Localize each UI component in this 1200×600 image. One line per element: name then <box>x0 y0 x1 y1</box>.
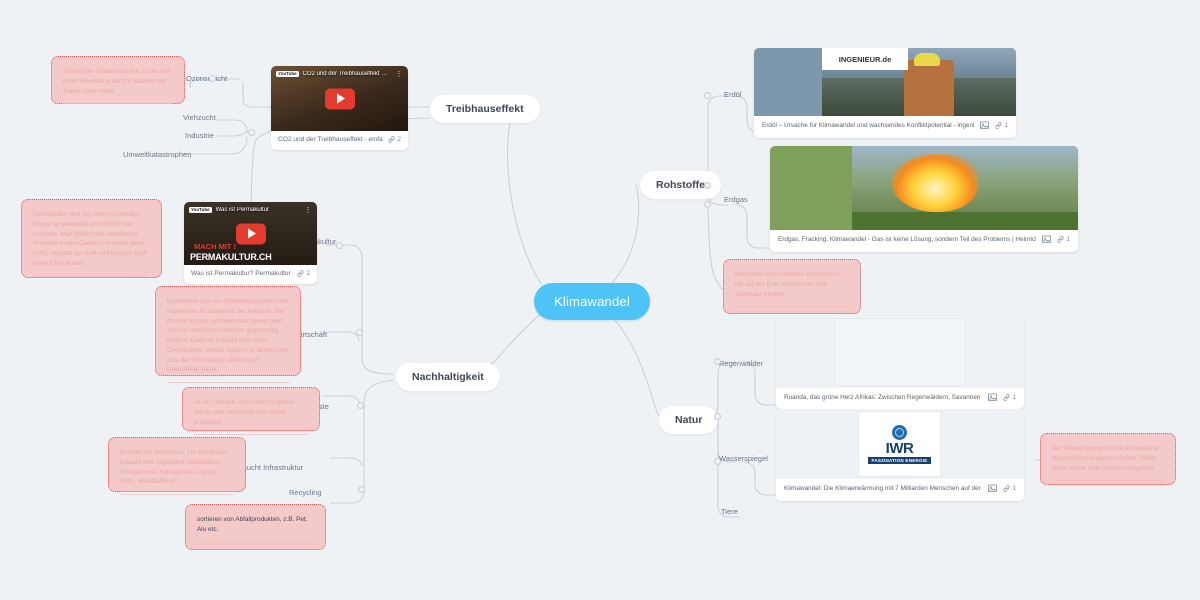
note-divider <box>63 103 173 104</box>
link-thumbnail[interactable]: INGENIEUR.de <box>754 48 1016 116</box>
thumbnail-flame <box>892 154 978 212</box>
thumbnail-overlay-text-2: PERMAKULTUR.CH <box>190 252 272 262</box>
note-infrastruktur[interactable]: Beispiel mit Schulhaus: Ein Schulhaus br… <box>108 437 246 492</box>
branch-label: Rohstoffe <box>656 179 705 191</box>
note-ozonschicht[interactable]: Schicht der Erdatmosphäre, in der sich u… <box>51 56 185 104</box>
root-node-label: Klimawandel <box>554 294 630 309</box>
link-thumbnail[interactable] <box>770 146 1078 230</box>
note-divider <box>120 494 234 495</box>
attachment-count-value: 1 <box>1004 122 1008 129</box>
link-title: Erdöl – Ursache für Klimawandel und wach… <box>762 122 974 129</box>
thumbnail-overlay-text-1: MACH MIT ! <box>194 242 236 251</box>
youtube-logo-icon: YouTube <box>276 71 299 78</box>
link-card-footer: Erdgas, Fracking, Klimawandel - Gas ist … <box>770 230 1078 248</box>
attachment-count[interactable]: 1 <box>1003 394 1016 401</box>
video-caption: Was ist Permakultur? Permakultur Schweiz <box>191 270 292 277</box>
note-text: bezeichnet man ein Produktionssystem von… <box>167 297 289 375</box>
link-title: Klimawandel: Die Klimaerwärmung mit 7 Mi… <box>784 485 982 492</box>
link-card-iwr[interactable]: IWR FASZINATION ENERGIE Klimawandel: Die… <box>776 409 1024 501</box>
note-text: Rohstoffe sind natürliche Ressourcen, di… <box>735 270 849 299</box>
attachment-count-value: 1 <box>1012 394 1016 401</box>
attachment-count[interactable]: 2 <box>297 270 310 277</box>
link-icon <box>1003 394 1010 401</box>
subnode-ozonschicht[interactable]: Ozonschicht <box>186 75 227 83</box>
note-permakultur[interactable]: Permakultur wird von einem normalen Bürg… <box>21 199 162 278</box>
subnode-label: Regenwälder <box>719 359 763 368</box>
connector-dot[interactable] <box>714 358 721 365</box>
subnode-label: Wasserspiegel <box>719 454 768 463</box>
kebab-menu-icon[interactable]: ⋮ <box>396 70 404 78</box>
video-player-title: CO2 und der Treibhauseffekt … <box>303 71 392 77</box>
play-button-icon[interactable] <box>236 223 266 244</box>
attachment-count-value: 2 <box>306 270 310 277</box>
subnode-label: Viehzucht <box>183 113 216 122</box>
note-recycling[interactable]: sortieren von Abfallprodukten, z.B. Pet,… <box>185 504 326 550</box>
link-card-erdoel[interactable]: INGENIEUR.de Erdöl – Ursache für Klimawa… <box>754 48 1016 138</box>
branch-label: Natur <box>675 414 702 426</box>
video-card-footer: CO2 und der Treibhauseffekt - einfach er… <box>271 131 408 148</box>
subnode-braucht-infrastruktur[interactable]: braucht Infrastruktur <box>236 464 303 472</box>
connector-dot[interactable] <box>209 75 216 82</box>
subnode-label: Erdgas <box>724 195 748 204</box>
youtube-logo-icon: YouTube <box>189 207 212 214</box>
branch-natur[interactable]: Natur <box>659 406 718 434</box>
thumbnail-helmet <box>914 53 940 66</box>
connector-dot[interactable] <box>714 413 721 420</box>
subnode-label: Umweltkatastrophen <box>123 150 191 159</box>
link-icon <box>388 136 395 143</box>
link-brand-label: IWR <box>886 441 914 456</box>
video-thumbnail[interactable]: YouTube Was ist Permakultur ⋮ MACH MIT !… <box>184 202 317 265</box>
note-divider <box>197 542 314 543</box>
subnode-label: Recycling <box>289 488 322 497</box>
attachment-count-value: 1 <box>1012 485 1016 492</box>
video-card-co2[interactable]: YouTube CO2 und der Treibhauseffekt … ⋮ … <box>271 66 408 150</box>
root-node[interactable]: Klimawandel <box>534 283 650 320</box>
note-divider <box>194 434 308 435</box>
youtube-player-bar: YouTube CO2 und der Treibhauseffekt … ⋮ <box>276 70 403 78</box>
subnode-erdgas[interactable]: Erdgas <box>724 196 748 204</box>
note-text: sortieren von Abfallprodukten, z.B. Pet,… <box>197 515 314 535</box>
link-brand-sub: FASZINATION ENERGIE <box>868 457 930 464</box>
subnode-label: Ozonschicht <box>186 74 227 83</box>
link-icon <box>297 270 304 277</box>
subnode-erdoel[interactable]: Erdöl <box>724 91 742 99</box>
video-card-permakultur[interactable]: YouTube Was ist Permakultur ⋮ MACH MIT !… <box>184 202 317 284</box>
link-title: Ruanda, das grüne Herz Afrikas: Zwischen… <box>784 394 982 401</box>
image-icon[interactable] <box>988 484 997 492</box>
link-title: Erdgas, Fracking, Klimawandel - Gas ist … <box>778 236 1036 243</box>
globe-icon <box>892 425 907 440</box>
connector-dot[interactable] <box>356 329 363 336</box>
subnode-viehzucht[interactable]: Viehzucht <box>183 114 216 122</box>
subnode-regenwaelder[interactable]: Regenwälder <box>719 360 763 368</box>
mindmap-canvas[interactable]: Klimawandel Treibhauseffekt Nachhaltigke… <box>0 0 1200 600</box>
note-rohstoffe[interactable]: Rohstoffe sind natürliche Ressourcen, di… <box>723 259 861 314</box>
subnode-label: Erdöl <box>724 90 742 99</box>
link-brand-label: INGENIEUR.de <box>822 48 908 70</box>
subnode-umweltkatastrophen[interactable]: Umweltkatastrophen <box>123 151 191 159</box>
youtube-player-bar: YouTube Was ist Permakultur ⋮ <box>189 206 312 214</box>
kebab-menu-icon[interactable]: ⋮ <box>305 206 313 214</box>
link-thumbnail[interactable]: IWR FASZINATION ENERGIE <box>776 409 1024 479</box>
subnode-label: Tiere <box>721 507 738 516</box>
note-divider <box>735 306 849 307</box>
connector-dot[interactable] <box>704 201 711 208</box>
note-text: Beispiel mit Schulhaus: Ein Schulhaus br… <box>120 448 234 487</box>
subnode-label: Industrie <box>185 131 214 140</box>
note-wasserspiegel[interactable]: Der Wasserspiegel ist die momentane Wass… <box>1040 433 1176 485</box>
connector-dot[interactable] <box>714 458 721 465</box>
note-text: Der Wasserspiegel ist die momentane Wass… <box>1052 444 1164 473</box>
attachment-count[interactable]: 2 <box>388 136 401 143</box>
video-card-footer: Was ist Permakultur? Permakultur Schweiz… <box>184 265 317 282</box>
note-zero-waste[interactable]: ist ein Lifestyle, dass man möglichst we… <box>182 387 320 431</box>
note-text: ist ein Lifestyle, dass man möglichst we… <box>194 398 308 427</box>
link-card-footer: Ruanda, das grüne Herz Afrikas: Zwischen… <box>776 388 1024 406</box>
video-thumbnail[interactable]: YouTube CO2 und der Treibhauseffekt … ⋮ <box>271 66 408 131</box>
subnode-industrie[interactable]: Industrie <box>185 132 214 140</box>
image-icon[interactable] <box>988 393 997 401</box>
note-divider <box>33 276 150 277</box>
subnode-tiere[interactable]: Tiere <box>721 508 738 516</box>
note-divider <box>1052 480 1164 481</box>
subnode-recycling[interactable]: Recycling <box>289 489 322 497</box>
thumbnail-image <box>834 318 966 386</box>
branch-nachhaltigkeit[interactable]: Nachhaltigkeit <box>396 363 500 391</box>
note-divider <box>167 382 289 383</box>
attachment-count-value: 1 <box>1066 236 1070 243</box>
link-thumbnail[interactable] <box>776 316 1024 388</box>
connector-dot[interactable] <box>336 242 343 249</box>
link-icon <box>995 122 1002 129</box>
branch-label: Treibhauseffekt <box>446 103 524 115</box>
attachment-count[interactable]: 1 <box>995 122 1008 129</box>
thumbnail-image: IWR FASZINATION ENERGIE <box>858 411 941 477</box>
play-button-icon[interactable] <box>325 88 355 109</box>
branch-label: Nachhaltigkeit <box>412 371 484 383</box>
subnode-wasserspiegel[interactable]: Wasserspiegel <box>719 455 768 463</box>
link-icon <box>1057 236 1064 243</box>
connector-dot[interactable] <box>248 129 255 136</box>
note-text: Permakultur wird von einem normalen Bürg… <box>33 210 150 269</box>
link-icon <box>1003 485 1010 492</box>
video-caption: CO2 und der Treibhauseffekt - einfach er… <box>278 136 383 143</box>
link-card-erdgas[interactable]: Erdgas, Fracking, Klimawandel - Gas ist … <box>770 146 1078 252</box>
note-agroforstwirtschaft[interactable]: bezeichnet man ein Produktionssystem von… <box>155 286 301 376</box>
thumbnail-field <box>852 212 1078 230</box>
link-card-footer: Klimawandel: Die Klimaerwärmung mit 7 Mi… <box>776 479 1024 497</box>
branch-treibhauseffekt[interactable]: Treibhauseffekt <box>430 95 540 123</box>
video-player-title: Was ist Permakultur <box>216 207 301 213</box>
link-card-footer: Erdöl – Ursache für Klimawandel und wach… <box>754 116 1016 134</box>
link-card-ruanda[interactable]: Ruanda, das grüne Herz Afrikas: Zwischen… <box>776 316 1024 409</box>
connector-dot[interactable] <box>358 486 365 493</box>
attachment-count[interactable]: 1 <box>1057 236 1070 243</box>
connector-dot[interactable] <box>357 402 364 409</box>
note-text: Schicht der Erdatmosphäre, in der sich u… <box>63 67 173 96</box>
attachment-count[interactable]: 1 <box>1003 485 1016 492</box>
subnode-label: braucht Infrastruktur <box>236 463 303 472</box>
attachment-count-value: 2 <box>397 136 401 143</box>
connector-dot[interactable] <box>704 92 711 99</box>
image-icon[interactable] <box>980 121 989 129</box>
image-icon[interactable] <box>1042 235 1051 243</box>
thumbnail-figure <box>904 60 954 116</box>
connector-dot[interactable] <box>704 182 711 189</box>
